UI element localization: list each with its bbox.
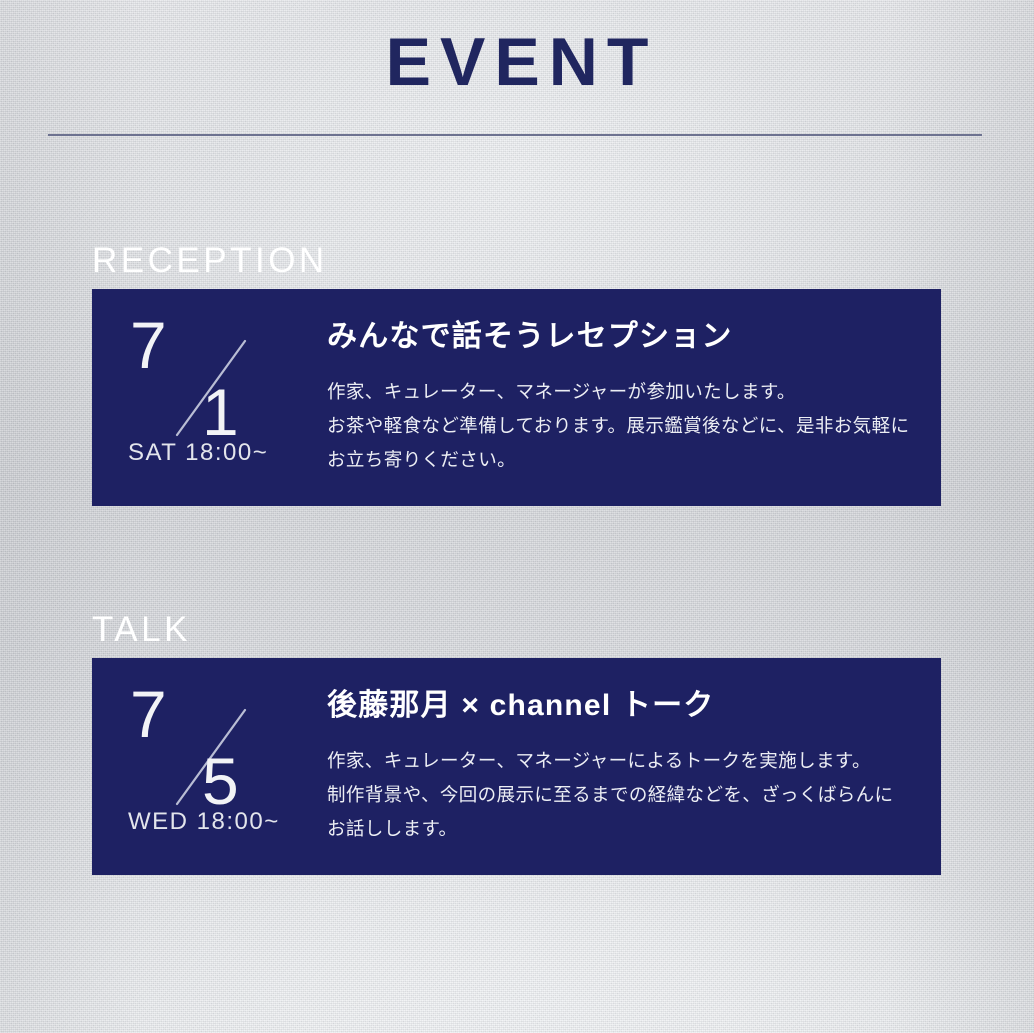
event-body-line: 作家、キュレーター、マネージャーによるトークを実施します。 — [327, 744, 893, 778]
date-day: 1 — [202, 379, 239, 445]
text-block-talk: 後藤那月 × channel トーク 作家、キュレーター、マネージャーによるトー… — [327, 658, 893, 847]
date-meta: SAT 18:00~ — [128, 441, 268, 465]
event-body-line: お茶や軽食など準備しております。展示鑑賞後などに、是非お気軽に — [327, 409, 909, 443]
event-body: 作家、キュレーター、マネージャーが参加いたします。 お茶や軽食など準備しておりま… — [327, 375, 909, 478]
event-card-talk[interactable]: 7 5 WED 18:00~ 後藤那月 × channel トーク 作家、キュレ… — [92, 658, 941, 875]
event-body: 作家、キュレーター、マネージャーによるトークを実施します。 制作背景や、今回の展… — [327, 744, 893, 847]
date-day: 5 — [202, 748, 239, 814]
date-block-talk: 7 5 WED 18:00~ — [92, 658, 327, 875]
title-divider — [48, 134, 982, 136]
section-label-reception: RECEPTION — [92, 243, 328, 278]
event-body-line: 制作背景や、今回の展示に至るまでの経緯などを、ざっくばらんに — [327, 778, 893, 812]
date-block-reception: 7 1 SAT 18:00~ — [92, 289, 327, 506]
event-card-reception[interactable]: 7 1 SAT 18:00~ みんなで話そうレセプション 作家、キュレーター、マ… — [92, 289, 941, 506]
event-heading: みんなで話そうレセプション — [327, 319, 909, 355]
event-body-line: 作家、キュレーター、マネージャーが参加いたします。 — [327, 375, 909, 409]
section-label-talk: TALK — [92, 612, 191, 647]
text-block-reception: みんなで話そうレセプション 作家、キュレーター、マネージャーが参加いたします。 … — [327, 289, 909, 478]
page-title: EVENT — [0, 28, 1034, 96]
date-meta: WED 18:00~ — [128, 810, 280, 834]
event-body-line: お話しします。 — [327, 812, 893, 846]
event-poster: EVENT RECEPTION 7 1 SAT 18:00~ みんなで話そうレセ… — [0, 0, 1034, 1033]
event-body-line: お立ち寄りください。 — [327, 443, 909, 477]
event-heading: 後藤那月 × channel トーク — [327, 688, 893, 724]
